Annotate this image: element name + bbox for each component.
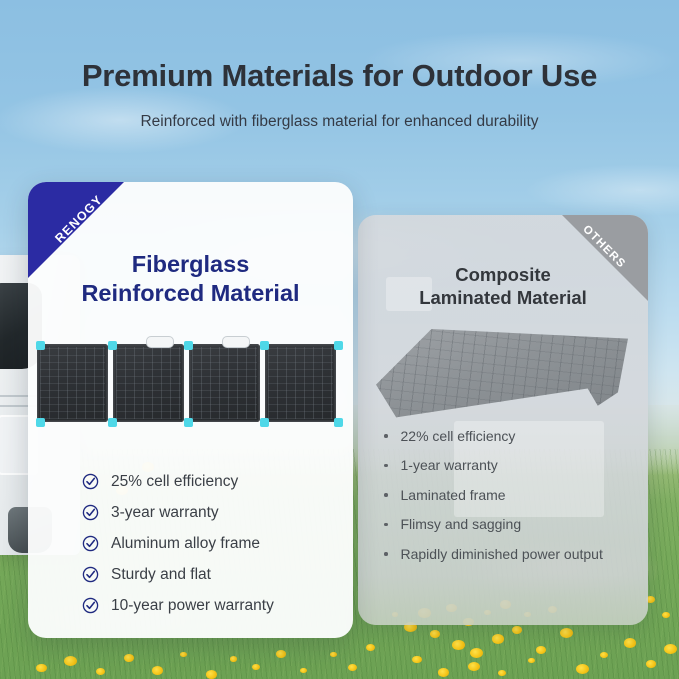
check-circle-icon: [82, 597, 99, 614]
check-circle-icon: [82, 566, 99, 583]
others-feature-item: 1-year warranty: [384, 451, 644, 481]
wildflower: [330, 652, 337, 657]
renogy-feature-label: 25% cell efficiency: [111, 473, 238, 491]
renogy-comparison-card: RENOGY Fiberglass Reinforced Material 25…: [28, 182, 353, 638]
dot-bullet-icon: [384, 493, 388, 497]
others-feature-label: Laminated frame: [401, 487, 506, 503]
panel-handle: [146, 336, 174, 348]
wildflower: [412, 656, 422, 663]
wildflower: [528, 658, 535, 663]
wildflower: [180, 652, 187, 657]
dot-bullet-icon: [384, 552, 388, 556]
wildflower: [624, 638, 636, 648]
page-subtitle: Reinforced with fiberglass material for …: [0, 113, 679, 131]
renogy-feature-item: 10-year power warranty: [82, 590, 352, 621]
panel-corner-tab: [260, 341, 269, 350]
panel-corner-tab: [334, 341, 343, 350]
wildflower: [252, 664, 260, 670]
panel-corner-tab: [108, 418, 117, 427]
renogy-card-heading: Fiberglass Reinforced Material: [28, 250, 353, 309]
wildflower: [276, 650, 286, 658]
renogy-feature-label: Sturdy and flat: [111, 566, 211, 584]
dot-bullet-icon: [384, 523, 388, 527]
wildflower: [366, 644, 375, 651]
wildflower: [576, 664, 589, 674]
wildflower: [452, 640, 465, 650]
panel-corner-tab: [36, 341, 45, 350]
wildflower: [438, 668, 449, 677]
panel-corner-tab: [184, 418, 193, 427]
dot-bullet-icon: [384, 464, 388, 468]
renogy-heading-line2: Reinforced Material: [28, 279, 353, 308]
renogy-feature-list: 25% cell efficiency3-year warrantyAlumin…: [82, 466, 352, 621]
panel-handle: [222, 336, 250, 348]
dot-bullet-icon: [384, 434, 388, 438]
panel-fold: [37, 344, 108, 422]
others-feature-item: 22% cell efficiency: [384, 421, 644, 451]
promo-graphic: Premium Materials for Outdoor Use Reinfo…: [0, 0, 679, 679]
others-feature-label: Rapidly diminished power output: [401, 546, 603, 562]
wildflower: [512, 626, 522, 634]
wildflower: [206, 670, 217, 679]
others-comparison-card: OTHERS Composite Laminated Material 22% …: [358, 215, 648, 625]
renogy-feature-label: 3-year warranty: [111, 504, 219, 522]
wildflower: [600, 652, 608, 658]
panel-corner-tab: [36, 418, 45, 427]
check-circle-icon: [82, 473, 99, 490]
others-feature-label: 22% cell efficiency: [401, 428, 516, 444]
wildflower: [36, 664, 47, 672]
panel-corner-tab: [108, 341, 117, 350]
panel-corner-tab: [334, 418, 343, 427]
panel-fold: [189, 344, 260, 422]
renogy-feature-label: 10-year power warranty: [111, 597, 274, 615]
wildflower: [498, 670, 506, 676]
wildflower: [468, 662, 480, 671]
renogy-solar-panel-image: [36, 334, 344, 430]
renogy-feature-item: 25% cell efficiency: [82, 466, 352, 497]
wildflower: [662, 612, 670, 618]
renogy-feature-item: Aluminum alloy frame: [82, 528, 352, 559]
others-card-heading: Composite Laminated Material: [358, 263, 648, 309]
panel-corner-tab: [184, 341, 193, 350]
renogy-feature-item: 3-year warranty: [82, 497, 352, 528]
others-feature-list: 22% cell efficiency1-year warrantyLamina…: [384, 421, 644, 569]
renogy-feature-item: Sturdy and flat: [82, 559, 352, 590]
others-feature-item: Flimsy and sagging: [384, 510, 644, 540]
wildflower: [492, 634, 504, 644]
wildflower: [536, 646, 546, 654]
wildflower: [646, 660, 656, 668]
panel-corner-tab: [260, 418, 269, 427]
renogy-feature-label: Aluminum alloy frame: [111, 535, 260, 553]
renogy-heading-line1: Fiberglass: [28, 250, 353, 279]
others-feature-item: Laminated frame: [384, 480, 644, 510]
wildflower: [124, 654, 134, 662]
wildflower: [230, 656, 237, 662]
others-feature-label: Flimsy and sagging: [401, 516, 522, 532]
others-feature-label: 1-year warranty: [401, 457, 498, 473]
wildflower: [470, 648, 483, 658]
page-title: Premium Materials for Outdoor Use: [0, 58, 679, 94]
others-heading-line2: Laminated Material: [358, 286, 648, 309]
check-circle-icon: [82, 504, 99, 521]
panel-fold: [113, 344, 184, 422]
others-heading-line1: Composite: [358, 263, 648, 286]
sagging-panel-cell-grid: [376, 329, 628, 425]
wildflower: [152, 666, 163, 675]
others-feature-item: Rapidly diminished power output: [384, 539, 644, 569]
check-circle-icon: [82, 535, 99, 552]
panel-fold: [265, 344, 336, 422]
